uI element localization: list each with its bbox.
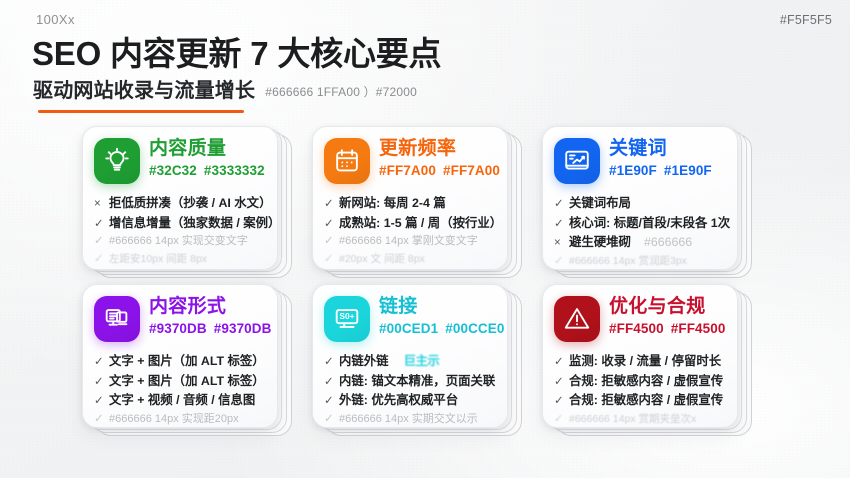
bullet-item: ✓ 内链外链巨主示 xyxy=(324,352,497,372)
card-header-text: 更新频率 #FF7A00#FF7A00 xyxy=(379,138,497,178)
bullet-item: ✓ 文字 + 图片（加 ALT 标签） xyxy=(94,352,267,372)
card-color-codes: #32C32#3333332 xyxy=(149,163,265,178)
check-icon: ✓ xyxy=(554,411,564,428)
bullet-text: 核心词: 标题/首段/末段各 1次 xyxy=(569,214,730,233)
check-icon: ✓ xyxy=(324,196,334,214)
card-bullet-list: ✓ 内链外链巨主示✓ 内链: 锚文本精准，页面关联✓ 外链: 优先高权威平台✓ … xyxy=(324,352,497,428)
check-icon: ✓ xyxy=(94,216,104,234)
check-icon: ✓ xyxy=(94,374,104,392)
card-header-text: 内容形式 #9370DB#9370DB xyxy=(149,296,267,336)
check-icon: ✓ xyxy=(94,233,104,251)
bullet-item: ✓ #666666 14px 实现距20px xyxy=(94,411,267,428)
bullet-text: #666666 14px 实期交文以示 xyxy=(339,411,478,428)
monitor-link-icon: S0+ xyxy=(324,296,370,342)
card-code-secondary: #FF7A00 xyxy=(443,163,500,178)
check-icon: ✓ xyxy=(94,251,104,269)
card-title: 内容形式 xyxy=(149,297,267,318)
bullet-text: 关键词布局 xyxy=(569,194,631,213)
card-code-primary: #32C32 xyxy=(149,163,197,178)
check-icon: ✓ xyxy=(554,253,564,270)
card-header: 内容质量 #32C32#3333332 xyxy=(94,138,267,190)
cross-icon: × xyxy=(94,196,104,214)
bullet-item: ✓ 合规: 拒敏感内容 / 虚假宣传 xyxy=(554,391,727,411)
corner-color-code: #F5F5F5 xyxy=(780,13,832,27)
card-2[interactable]: 更新频率 #FF7A00#FF7A00 ✓ 新网站: 每周 2-4 篇✓ 成熟站… xyxy=(312,126,542,278)
bullet-item: ✓ #666666 14px 实现交变文字 xyxy=(94,233,267,251)
check-icon: ✓ xyxy=(324,374,334,392)
check-icon: ✓ xyxy=(324,251,334,269)
card-surface[interactable]: 优化与合规 #FF4500#FF4500 ✓ 监测: 收录 / 流量 / 停留时… xyxy=(542,284,738,428)
calendar-icon xyxy=(324,138,370,184)
accent-underline xyxy=(38,110,244,113)
bullet-text: #666666 14px 掌刚文变文字 xyxy=(339,233,478,250)
card-bullet-list: ✓ 关键词布局✓ 核心词: 标题/首段/末段各 1次× 避生硬堆砌#666666… xyxy=(554,194,727,270)
monitor-image-icon xyxy=(94,296,140,342)
check-icon: ✓ xyxy=(94,354,104,372)
card-5[interactable]: S0+ 链接 #00CED1#00CCE0 ✓ 内链外链巨主示✓ 内链: 锚文本… xyxy=(312,284,542,436)
page-title: SEO 内容更新 7 大核心要点 xyxy=(32,27,441,75)
card-surface[interactable]: 内容质量 #32C32#3333332 × 拒低质拼凑（抄袭 / AI 水文）✓… xyxy=(82,126,278,270)
card-header-text: 链接 #00CED1#00CCE0 xyxy=(379,296,497,336)
bullet-text: 文字 + 图片（加 ALT 标签） xyxy=(109,372,265,391)
bullet-item: ✓ 增信息增量（独家数据 / 案例） xyxy=(94,214,267,234)
bullet-item: ✓ 成熟站: 1-5 篇 / 周（按行业） xyxy=(324,214,497,234)
card-color-codes: #1E90F#1E90F xyxy=(609,163,712,178)
bullet-item: ✓ 文字 + 图片（加 ALT 标签） xyxy=(94,372,267,392)
bullet-trailing-code: #666666 xyxy=(644,233,692,252)
bullet-text: 新网站: 每周 2-4 篇 xyxy=(339,194,446,213)
bullet-item: ✓ 监测: 收录 / 流量 / 停留时长 xyxy=(554,352,727,372)
card-code-secondary: #1E90F xyxy=(664,163,712,178)
bullet-text: 左距安10px 间距 8px xyxy=(109,251,207,267)
warning-triangle-icon xyxy=(554,296,600,342)
bullet-item: ✓ 左距安10px 间距 8px xyxy=(94,251,267,269)
check-icon: ✓ xyxy=(324,216,334,234)
card-4[interactable]: 内容形式 #9370DB#9370DB ✓ 文字 + 图片（加 ALT 标签）✓… xyxy=(82,284,312,436)
check-icon: ✓ xyxy=(94,411,104,428)
bullet-item: ✓ #666666 14px 掌刚文变文字 xyxy=(324,233,497,251)
bullet-text: 内链: 锚文本精准，页面关联 xyxy=(339,372,495,391)
bullet-text: 文字 + 视频 / 音频 / 信息图 xyxy=(109,391,255,410)
cross-icon: × xyxy=(554,235,564,253)
bullet-item: ✓ #20px 文 间距 8px xyxy=(324,251,497,269)
card-code-primary: #1E90F xyxy=(609,163,657,178)
card-bullet-list: × 拒低质拼凑（抄袭 / AI 水文）✓ 增信息增量（独家数据 / 案例）✓ #… xyxy=(94,194,267,269)
check-icon: ✓ xyxy=(94,393,104,411)
bullet-item: ✓ 核心词: 标题/首段/末段各 1次 xyxy=(554,214,727,234)
card-color-codes: #FF7A00#FF7A00 xyxy=(379,163,497,178)
card-title: 更新频率 xyxy=(379,139,497,160)
card-surface[interactable]: 内容形式 #9370DB#9370DB ✓ 文字 + 图片（加 ALT 标签）✓… xyxy=(82,284,278,428)
card-code-primary: #FF7A00 xyxy=(379,163,436,178)
card-bullet-list: ✓ 文字 + 图片（加 ALT 标签）✓ 文字 + 图片（加 ALT 标签）✓ … xyxy=(94,352,267,428)
card-bullet-list: ✓ 监测: 收录 / 流量 / 停留时长✓ 合规: 拒敏感内容 / 虚假宣传✓ … xyxy=(554,352,727,428)
bullet-item: ✓ 外链: 优先高权威平台 xyxy=(324,391,497,411)
card-surface[interactable]: 更新频率 #FF7A00#FF7A00 ✓ 新网站: 每周 2-4 篇✓ 成熟站… xyxy=(312,126,508,270)
bullet-text: 避生硬堆砌 xyxy=(569,233,631,252)
card-header: 内容形式 #9370DB#9370DB xyxy=(94,296,267,348)
check-icon: ✓ xyxy=(324,411,334,428)
card-code-primary: #9370DB xyxy=(149,321,207,336)
check-icon: ✓ xyxy=(324,354,334,372)
card-title: 关键词 xyxy=(609,139,712,160)
bullet-text: #666666 14px 赏润距3px xyxy=(569,253,687,269)
header: 100Xx #F5F5F5 SEO 内容更新 7 大核心要点 驱动网站收录与流量… xyxy=(0,0,850,118)
bullet-item: ✓ 内链: 锚文本精准，页面关联 xyxy=(324,372,497,392)
card-header-text: 优化与合规 #FF4500#FF4500 xyxy=(609,296,725,336)
check-icon: ✓ xyxy=(324,233,334,251)
card-header: 更新频率 #FF7A00#FF7A00 xyxy=(324,138,497,190)
card-code-secondary: #3333332 xyxy=(204,163,265,178)
bullet-item: ✓ 合规: 拒敏感内容 / 虚假宣传 xyxy=(554,372,727,392)
card-title: 内容质量 xyxy=(149,139,265,160)
card-bullet-list: ✓ 新网站: 每周 2-4 篇✓ 成熟站: 1-5 篇 / 周（按行业）✓ #6… xyxy=(324,194,497,269)
subtitle-row: 驱动网站收录与流量增长 #666666 1FFA00 ）#72000 xyxy=(33,74,417,103)
card-header: S0+ 链接 #00CED1#00CCE0 xyxy=(324,296,497,348)
bullet-item: ✓ #666666 14px 实期交文以示 xyxy=(324,411,497,428)
eyebrow-label: 100Xx xyxy=(36,12,75,27)
bullet-text: #666666 14px 实现交变文字 xyxy=(109,233,248,250)
bullet-item: × 避生硬堆砌#666666 xyxy=(554,233,727,253)
bullet-item: ✓ 新网站: 每周 2-4 篇 xyxy=(324,194,497,214)
subtitle-color-code: #666666 1FFA00 ）#72000 xyxy=(265,83,417,100)
bullet-item: ✓ 关键词布局 xyxy=(554,194,727,214)
bullet-text: #666666 14px 赏期夹垒次x xyxy=(569,411,696,427)
card-color-codes: #FF4500#FF4500 xyxy=(609,321,725,336)
bullet-text: 监测: 收录 / 流量 / 停留时长 xyxy=(569,352,721,371)
bullet-text: 合规: 拒敏感内容 / 虚假宣传 xyxy=(569,391,723,410)
check-icon: ✓ xyxy=(554,196,564,214)
card-1[interactable]: 内容质量 #32C32#3333332 × 拒低质拼凑（抄袭 / AI 水文）✓… xyxy=(82,126,312,278)
check-icon: ✓ xyxy=(554,393,564,411)
check-icon: ✓ xyxy=(554,216,564,234)
bullet-text: #666666 14px 实现距20px xyxy=(109,411,239,428)
card-title: 链接 xyxy=(379,297,497,318)
card-3[interactable]: 关键词 #1E90F#1E90F ✓ 关键词布局✓ 核心词: 标题/首段/末段各… xyxy=(542,126,772,278)
bullet-item: × 拒低质拼凑（抄袭 / AI 水文） xyxy=(94,194,267,214)
bullet-item: ✓ 文字 + 视频 / 音频 / 信息图 xyxy=(94,391,267,411)
svg-text:S0+: S0+ xyxy=(339,311,354,321)
check-icon: ✓ xyxy=(554,374,564,392)
card-code-primary: #00CED1 xyxy=(379,321,438,336)
presentation-chart-icon xyxy=(554,138,600,184)
card-title: 优化与合规 xyxy=(609,297,725,318)
card-6[interactable]: 优化与合规 #FF4500#FF4500 ✓ 监测: 收录 / 流量 / 停留时… xyxy=(542,284,772,436)
bullet-text: 文字 + 图片（加 ALT 标签） xyxy=(109,352,265,371)
card-surface[interactable]: 关键词 #1E90F#1E90F ✓ 关键词布局✓ 核心词: 标题/首段/末段各… xyxy=(542,126,738,270)
bullet-text: 拒低质拼凑（抄袭 / AI 水文） xyxy=(109,194,271,213)
card-code-secondary: #FF4500 xyxy=(671,321,726,336)
card-code-primary: #FF4500 xyxy=(609,321,664,336)
card-code-secondary: #9370DB xyxy=(214,321,272,336)
card-header-text: 关键词 #1E90F#1E90F xyxy=(609,138,712,178)
bullet-text: 外链: 优先高权威平台 xyxy=(339,391,458,410)
check-icon: ✓ xyxy=(324,393,334,411)
bullet-text: 成熟站: 1-5 篇 / 周（按行业） xyxy=(339,214,502,233)
card-code-secondary: #00CCE0 xyxy=(445,321,504,336)
bullet-glitch-text: 巨主示 xyxy=(404,352,440,371)
bullet-item: ✓ #666666 14px 赏期夹垒次x xyxy=(554,411,727,428)
card-grid: 内容质量 #32C32#3333332 × 拒低质拼凑（抄袭 / AI 水文）✓… xyxy=(0,126,850,438)
card-header: 关键词 #1E90F#1E90F xyxy=(554,138,727,190)
check-icon: ✓ xyxy=(554,354,564,372)
bullet-text: 合规: 拒敏感内容 / 虚假宣传 xyxy=(569,372,723,391)
bullet-text: #20px 文 间距 8px xyxy=(339,251,425,267)
card-color-codes: #00CED1#00CCE0 xyxy=(379,321,497,336)
card-surface[interactable]: S0+ 链接 #00CED1#00CCE0 ✓ 内链外链巨主示✓ 内链: 锚文本… xyxy=(312,284,508,428)
lightbulb-icon xyxy=(94,138,140,184)
page-subtitle: 驱动网站收录与流量增长 xyxy=(33,74,255,103)
card-color-codes: #9370DB#9370DB xyxy=(149,321,267,336)
card-header: 优化与合规 #FF4500#FF4500 xyxy=(554,296,727,348)
bullet-text: 内链外链 xyxy=(339,352,389,371)
bullet-item: ✓ #666666 14px 赏润距3px xyxy=(554,253,727,270)
bullet-text: 增信息增量（独家数据 / 案例） xyxy=(109,214,278,233)
card-header-text: 内容质量 #32C32#3333332 xyxy=(149,138,265,178)
